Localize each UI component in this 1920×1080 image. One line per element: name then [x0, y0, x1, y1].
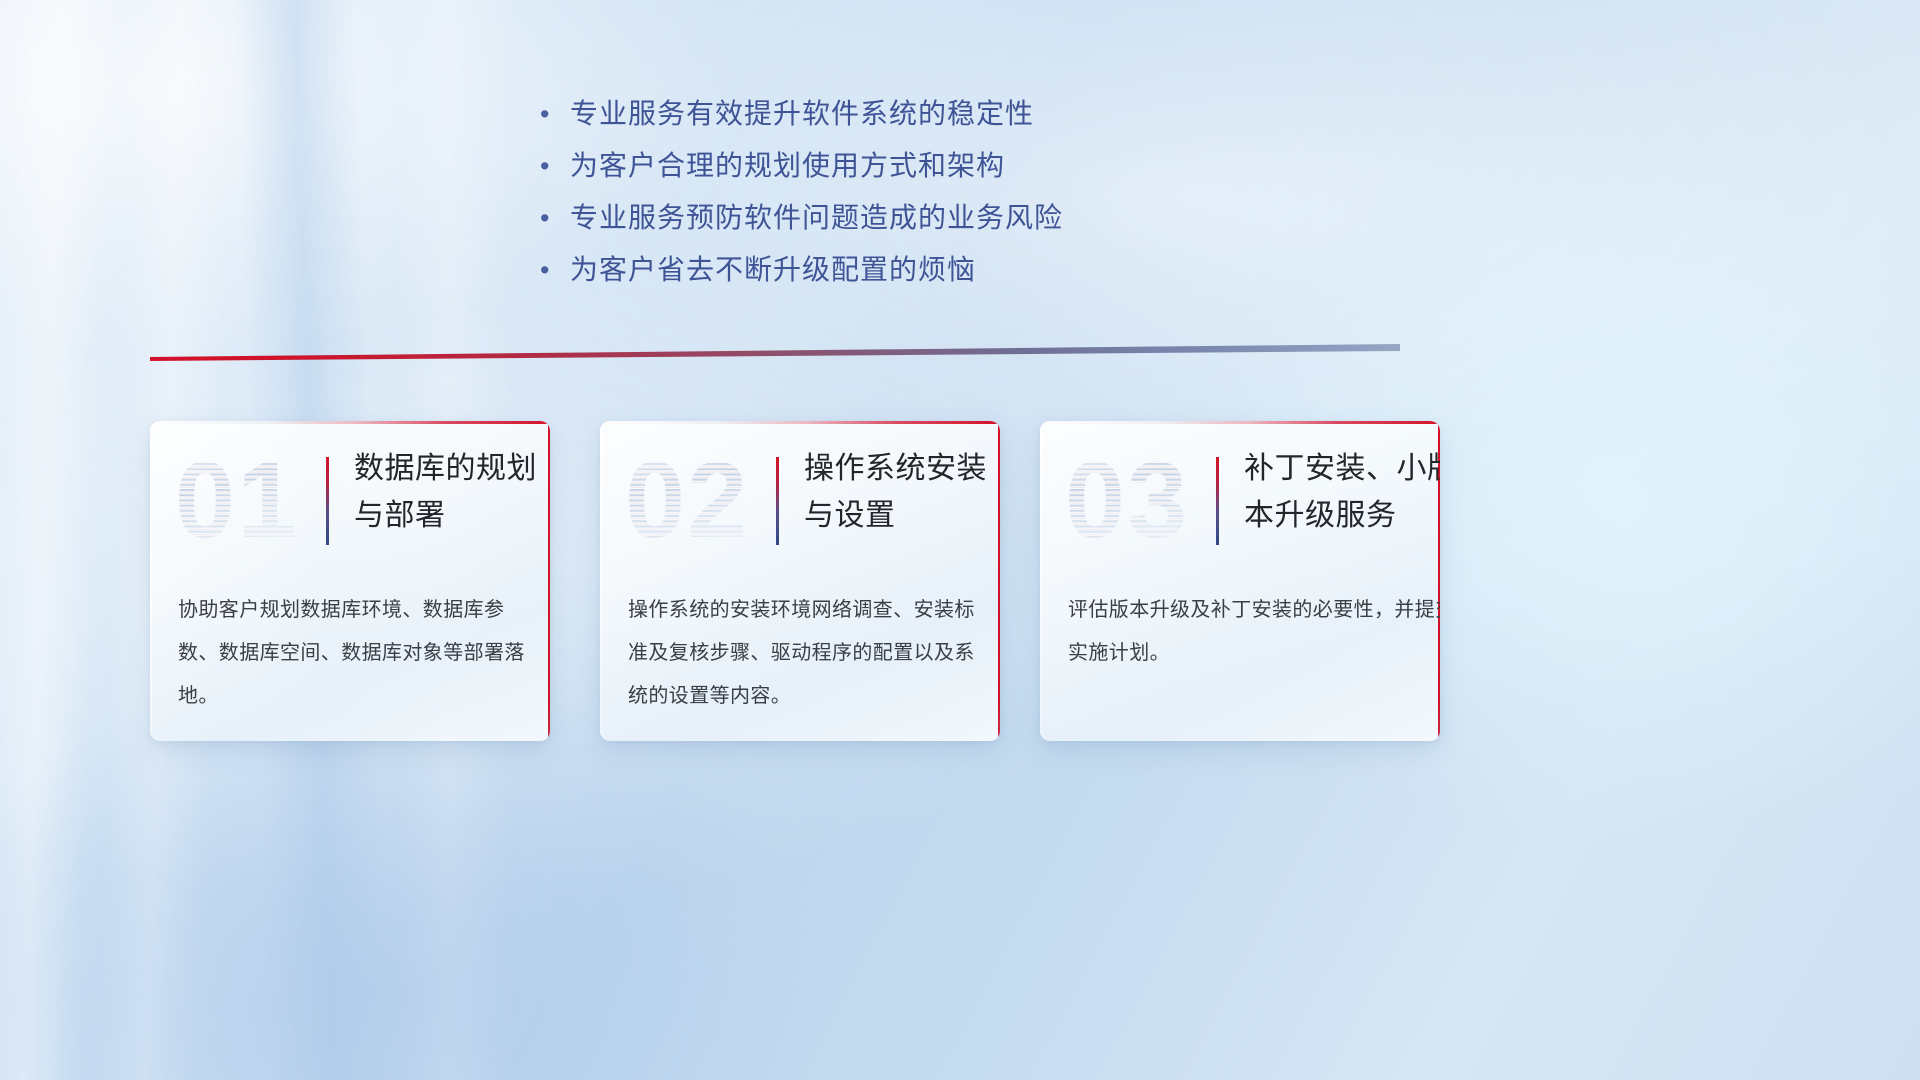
list-item: • 为客户省去不断升级配置的烦恼 — [540, 244, 1320, 296]
ghost-number-01-icon: 01 — [172, 437, 312, 557]
card-description: 操作系统的安装环境网络调查、安装标准及复核步骤、驱动程序的配置以及系统的设置等内… — [628, 589, 976, 718]
card-title: 补丁安装、小版本升级服务 — [1244, 445, 1440, 539]
card-title-divider — [776, 457, 779, 545]
service-card-03[interactable]: 03 补丁安装、小版本升级服务 评估版本升级及补丁安装的必要性，并提交实施计划。 — [1040, 421, 1440, 741]
tapered-rule-icon — [150, 344, 1400, 366]
list-item: • 专业服务有效提升软件系统的稳定性 — [540, 88, 1320, 140]
card-header: 03 补丁安装、小版本升级服务 — [1040, 443, 1440, 571]
service-card-group: 01 数据库的规划与部署 协助客户规划数据库环境、数据库参数、数据库空间、数据库… — [150, 421, 1450, 741]
section-divider — [150, 344, 1400, 366]
card-title: 数据库的规划与部署 — [354, 445, 549, 539]
bullet-text: 专业服务有效提升软件系统的稳定性 — [570, 88, 1034, 140]
card-title-divider — [1216, 457, 1219, 545]
card-top-accent-border — [150, 421, 550, 424]
ghost-number-03-icon: 03 — [1062, 437, 1202, 557]
bullet-text: 专业服务预防软件问题造成的业务风险 — [570, 192, 1063, 244]
card-title-divider — [326, 457, 329, 545]
card-title: 操作系统安装与设置 — [804, 445, 999, 539]
card-description: 协助客户规划数据库环境、数据库参数、数据库空间、数据库对象等部署落地。 — [178, 589, 526, 718]
bullet-dot-icon: • — [540, 244, 570, 296]
list-item: • 为客户合理的规划使用方式和架构 — [540, 140, 1320, 192]
svg-text:02: 02 — [625, 439, 749, 557]
ghost-number-02-icon: 02 — [622, 437, 762, 557]
benefits-bullet-list: • 专业服务有效提升软件系统的稳定性 • 为客户合理的规划使用方式和架构 • 专… — [540, 88, 1320, 296]
svg-text:01: 01 — [175, 439, 299, 557]
bullet-text: 为客户省去不断升级配置的烦恼 — [570, 244, 976, 296]
slide-canvas: • 专业服务有效提升软件系统的稳定性 • 为客户合理的规划使用方式和架构 • 专… — [0, 0, 1920, 1080]
service-card-02[interactable]: 02 操作系统安装与设置 操作系统的安装环境网络调查、安装标准及复核步骤、驱动程… — [600, 421, 1000, 741]
bullet-dot-icon: • — [540, 88, 570, 140]
bullet-dot-icon: • — [540, 140, 570, 192]
service-card-01[interactable]: 01 数据库的规划与部署 协助客户规划数据库环境、数据库参数、数据库空间、数据库… — [150, 421, 550, 741]
list-item: • 专业服务预防软件问题造成的业务风险 — [540, 192, 1320, 244]
svg-text:03: 03 — [1065, 439, 1189, 557]
card-description: 评估版本升级及补丁安装的必要性，并提交实施计划。 — [1068, 589, 1440, 675]
card-header: 01 数据库的规划与部署 — [150, 443, 550, 571]
card-header: 02 操作系统安装与设置 — [600, 443, 1000, 571]
bullet-text: 为客户合理的规划使用方式和架构 — [570, 140, 1005, 192]
card-top-accent-border — [600, 421, 1000, 424]
bullet-dot-icon: • — [540, 192, 570, 244]
card-top-accent-border — [1040, 421, 1440, 424]
